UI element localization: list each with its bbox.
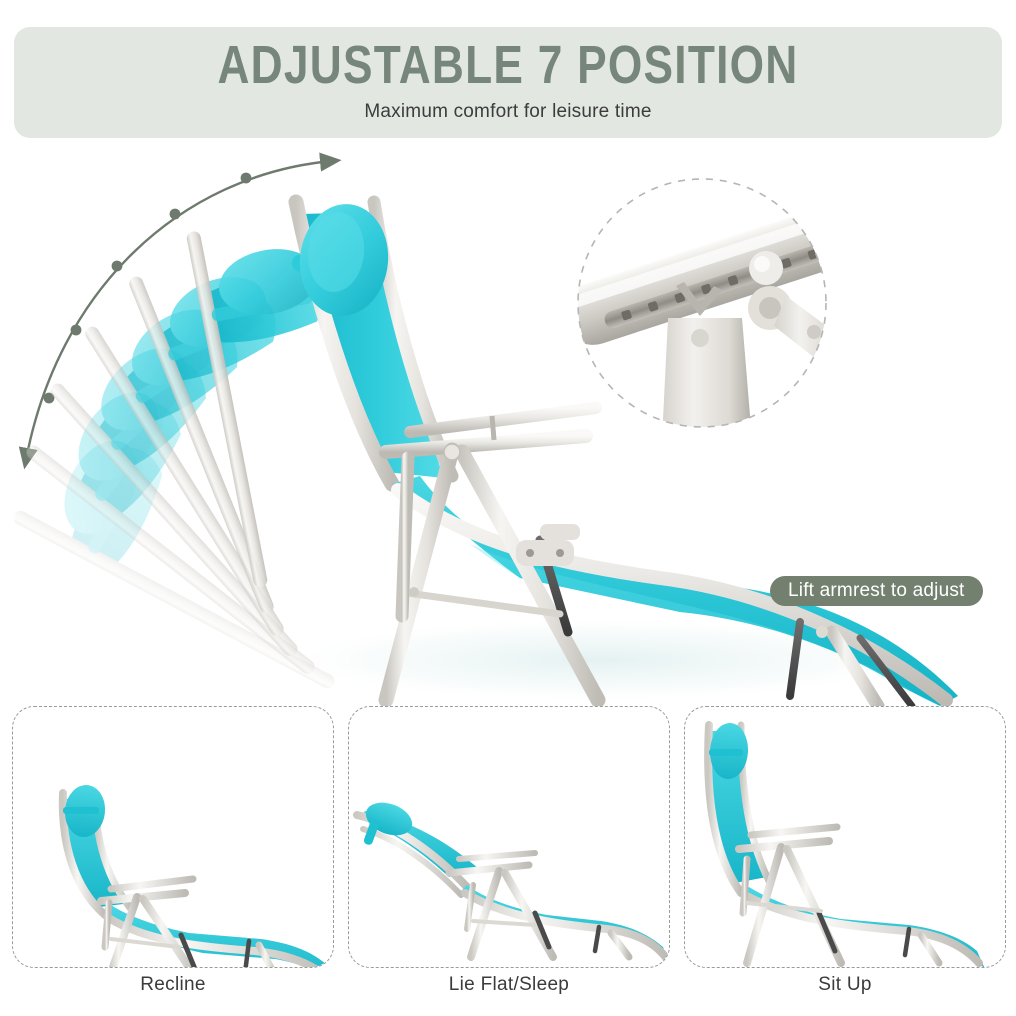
armrest-joint-detail-circle (554, 179, 868, 440)
position-panel-recline[interactable] (12, 706, 334, 968)
hero-illustration (0, 140, 1016, 706)
lift-armrest-badge: Lift armrest to adjust (770, 576, 983, 606)
hero-product-stage: Lift armrest to adjust (0, 140, 1016, 706)
position-panel-sit-up[interactable] (684, 706, 1006, 968)
lift-armrest-badge-label: Lift armrest to adjust (788, 580, 965, 602)
panel-caption-sit-up: Sit Up (684, 974, 1006, 996)
panel-caption-recline: Recline (12, 974, 334, 996)
page-title: ADJUSTABLE 7 POSITION (103, 34, 913, 96)
chair-sit-up-illustration (685, 707, 1006, 968)
chair-lie-flat-illustration (349, 707, 670, 968)
page-subtitle: Maximum comfort for leisure time (14, 101, 1002, 123)
chair-recline-illustration (13, 707, 334, 968)
position-panel-lie-flat[interactable] (348, 706, 670, 968)
header-banner: ADJUSTABLE 7 POSITION Maximum comfort fo… (14, 27, 1002, 138)
panel-caption-lie-flat: Lie Flat/Sleep (348, 974, 670, 996)
